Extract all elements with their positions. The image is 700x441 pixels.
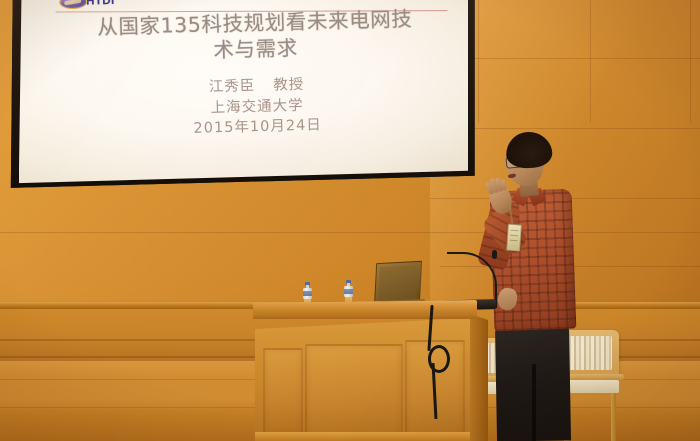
slide-presenter-rank: 教授 [273, 77, 304, 94]
wall-seam-vertical [690, 0, 691, 123]
lectern-panel-inset [263, 348, 303, 436]
lectern [253, 300, 488, 441]
laptop-screen [378, 265, 418, 303]
lectern-front-panel [255, 318, 470, 441]
lectern-base-molding [255, 432, 479, 441]
slide-presenter-name: 江秀臣 [208, 78, 255, 95]
microphone-capsule [492, 250, 497, 259]
htdi-emblem-icon [59, 0, 87, 9]
wall-seam-vertical [590, 0, 591, 123]
chair-leg [611, 393, 616, 441]
htdi-wordmark: HTDI [86, 0, 115, 8]
badge-text-line [510, 230, 518, 232]
badge-text-line [510, 235, 518, 237]
lectern-panel-inset [305, 344, 403, 440]
slide-content: HTDI 从国家135科技规划看未来电网技 术与需求 江秀臣教授 上海交通大学 … [37, 0, 472, 174]
slide-subtitle-block: 江秀臣教授 上海交通大学 2015年10月24日 [51, 71, 463, 144]
hand-finger [501, 179, 507, 191]
presenter-hair [505, 130, 553, 169]
slide-title: 从国家135科技规划看未来电网技 术与需求 [49, 5, 460, 69]
wall-seam-horizontal [470, 58, 700, 59]
screen-surface: HTDI 从国家135科技规划看未来电网技 术与需求 江秀臣教授 上海交通大学 … [19, 0, 468, 196]
presentation-photo-scene: HTDI 从国家135科技规划看未来电网技 术与需求 江秀臣教授 上海交通大学 … [0, 0, 700, 441]
trouser-leg-seam [532, 364, 536, 441]
presenter-name-badge [506, 224, 522, 252]
badge-text-line [510, 240, 518, 242]
bottle-label [344, 289, 352, 294]
wall-seam-vertical [478, 0, 479, 123]
slide-logo: HTDI [59, 0, 115, 9]
projection-screen: HTDI 从国家135科技规划看未来电网技 术与需求 江秀臣教授 上海交通大学 … [8, 0, 478, 196]
wall-seam-horizontal [470, 128, 700, 129]
lectern-top-surface [253, 300, 477, 314]
bottle-label [303, 291, 311, 296]
